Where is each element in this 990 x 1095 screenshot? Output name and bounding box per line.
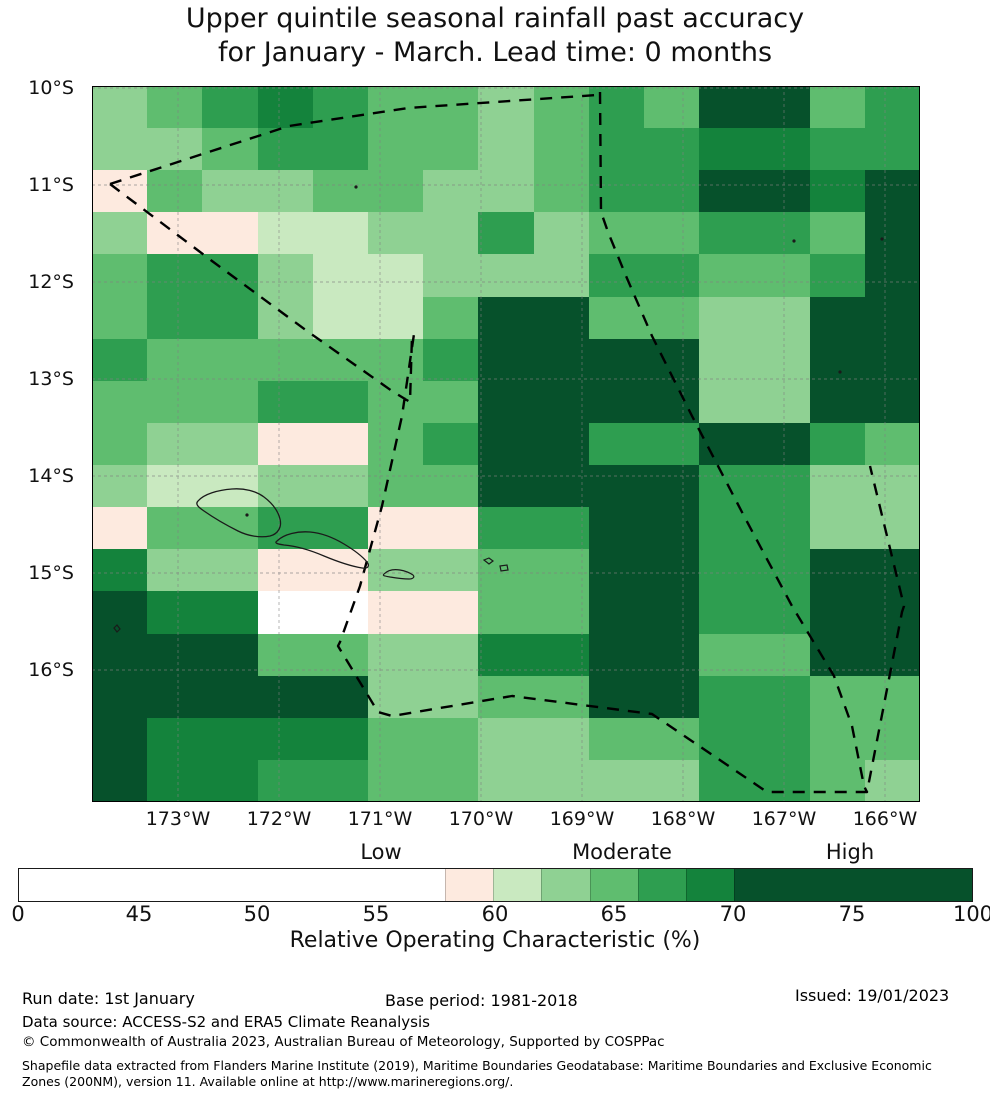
xtick-4: 169°W: [527, 808, 637, 830]
island-dot-5: [245, 513, 248, 516]
cbtick-1: 45: [99, 902, 179, 926]
colorbar-segment-0: [19, 869, 445, 901]
colorbar-segment-2: [493, 869, 541, 901]
title-line-2: for January - March. Lead time: 0 months: [0, 36, 990, 70]
cbtick-5: 65: [574, 902, 654, 926]
footer-issued-date: Issued: 19/01/2023: [795, 986, 949, 1005]
colorbar-category-high: High: [750, 840, 950, 864]
footer-data-source: Data source: ACCESS-S2 and ERA5 Climate …: [22, 1013, 430, 1031]
roc-heatmap-plot: [92, 86, 920, 802]
island-swains: [114, 625, 120, 632]
footer-base-period: Base period: 1981-2018: [385, 991, 578, 1010]
ytick-2: 12°S: [0, 271, 74, 293]
colorbar-title: Relative Operating Characteristic (%): [0, 928, 990, 953]
footer-copyright: © Commonwealth of Australia 2023, Austra…: [22, 1034, 665, 1050]
xtick-3: 170°W: [426, 808, 536, 830]
island-dot-4: [838, 370, 841, 373]
cbtick-2: 50: [217, 902, 297, 926]
island-dot-1: [354, 185, 357, 188]
cbtick-7: 75: [812, 902, 892, 926]
ytick-1: 11°S: [0, 174, 74, 196]
xtick-7: 166°W: [830, 808, 940, 830]
page-title: Upper quintile seasonal rainfall past ac…: [0, 2, 990, 70]
island-tutuila: [383, 570, 413, 579]
ytick-6: 16°S: [0, 659, 74, 681]
cbtick-4: 60: [455, 902, 535, 926]
cbtick-6: 70: [693, 902, 773, 926]
island-dot-2: [792, 239, 795, 242]
colorbar-category-moderate: Moderate: [522, 840, 722, 864]
ytick-4: 14°S: [0, 465, 74, 487]
colorbar-segment-7: [734, 869, 972, 901]
xtick-5: 168°W: [628, 808, 738, 830]
footer-shapefile-attribution: Shapefile data extracted from Flanders M…: [22, 1058, 972, 1090]
cbtick-8: 100: [933, 902, 990, 926]
colorbar-segment-1: [445, 869, 493, 901]
island-dot-3: [880, 237, 883, 240]
xtick-1: 172°W: [224, 808, 334, 830]
ytick-0: 10°S: [0, 77, 74, 99]
ytick-5: 15°S: [0, 562, 74, 584]
xtick-6: 167°W: [729, 808, 839, 830]
xtick-0: 173°W: [123, 808, 233, 830]
island-manua-2: [500, 565, 508, 571]
colorbar-segment-4: [590, 869, 638, 901]
graticule-gridlines: [92, 86, 920, 802]
colorbar: [18, 868, 973, 902]
cbtick-0: 0: [0, 902, 58, 926]
xtick-2: 171°W: [325, 808, 435, 830]
eez-boundary-line: [110, 91, 904, 792]
map-overlays: [92, 86, 920, 802]
colorbar-category-low: Low: [281, 840, 481, 864]
ytick-3: 13°S: [0, 368, 74, 390]
cbtick-3: 55: [336, 902, 416, 926]
island-manua-1: [484, 558, 493, 564]
island-savaii: [197, 489, 281, 537]
colorbar-segment-5: [638, 869, 686, 901]
footer-run-date: Run date: 1st January: [22, 989, 195, 1008]
colorbar-segment-6: [686, 869, 734, 901]
colorbar-segment-3: [541, 869, 589, 901]
island-upolu: [276, 532, 369, 568]
title-line-1: Upper quintile seasonal rainfall past ac…: [0, 2, 990, 36]
